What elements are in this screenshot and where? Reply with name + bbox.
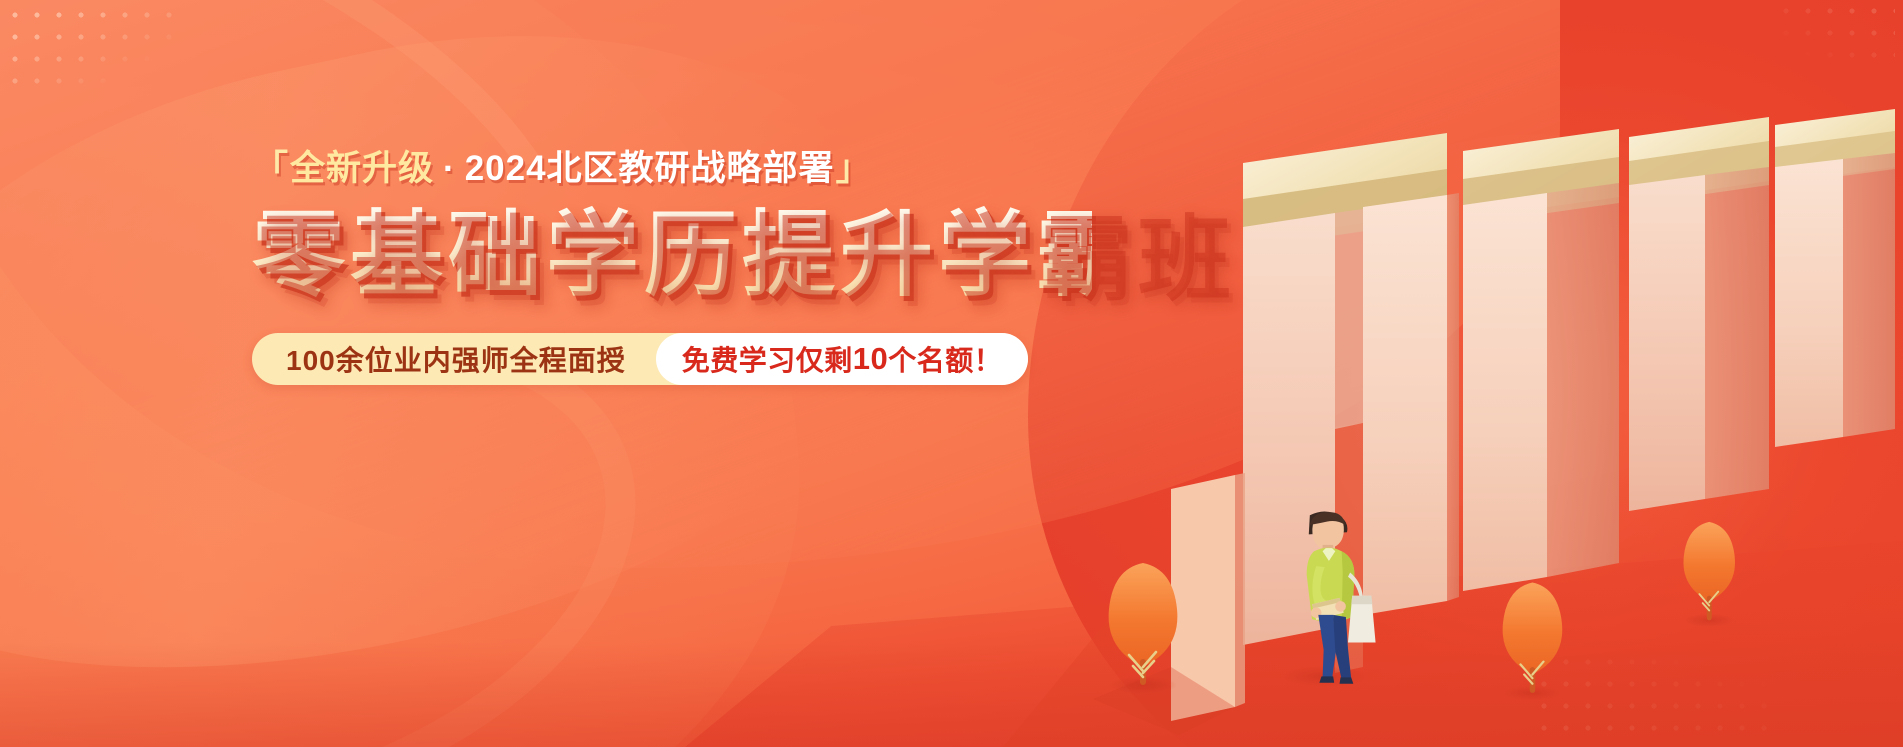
book-arch-icon bbox=[1629, 117, 1769, 511]
dot-pattern-top-right bbox=[1775, 0, 1895, 70]
instructors-label: 100余位业内强师全程面授 bbox=[252, 333, 656, 385]
bracket-close: 」 bbox=[836, 149, 872, 188]
bracket-open: 「 bbox=[253, 149, 289, 188]
offer-pill-row: 100余位业内强师全程面授 免费学习仅剩10个名额！ bbox=[252, 333, 1028, 385]
headline-copy-block: 「全新升级·2024北区教研战略部署」 零基础学历提升学霸班 100余位业内强师… bbox=[252, 148, 1092, 385]
seats-remaining-badge[interactable]: 免费学习仅剩10个名额！ bbox=[656, 333, 1029, 385]
seats-count: 10 bbox=[853, 341, 888, 377]
subtitle-separator: · bbox=[443, 149, 456, 188]
book-arch-icon bbox=[1463, 129, 1619, 591]
seats-prefix: 免费学习仅剩 bbox=[682, 339, 853, 379]
dot-pattern-top-left bbox=[4, 4, 184, 96]
subtitle-rest: 2024北区教研战略部署 bbox=[465, 149, 835, 188]
page-title: 零基础学历提升学霸班 bbox=[252, 203, 1092, 307]
promo-banner: 「全新升级·2024北区教研战略部署」 零基础学历提升学霸班 100余位业内强师… bbox=[0, 0, 1903, 747]
subtitle-highlight: 全新升级 bbox=[290, 149, 434, 188]
banner-subtitle: 「全新升级·2024北区教研战略部署」 bbox=[252, 148, 1092, 189]
seats-suffix: 个名额！ bbox=[888, 339, 1002, 379]
book-arch-icon bbox=[1775, 109, 1895, 447]
